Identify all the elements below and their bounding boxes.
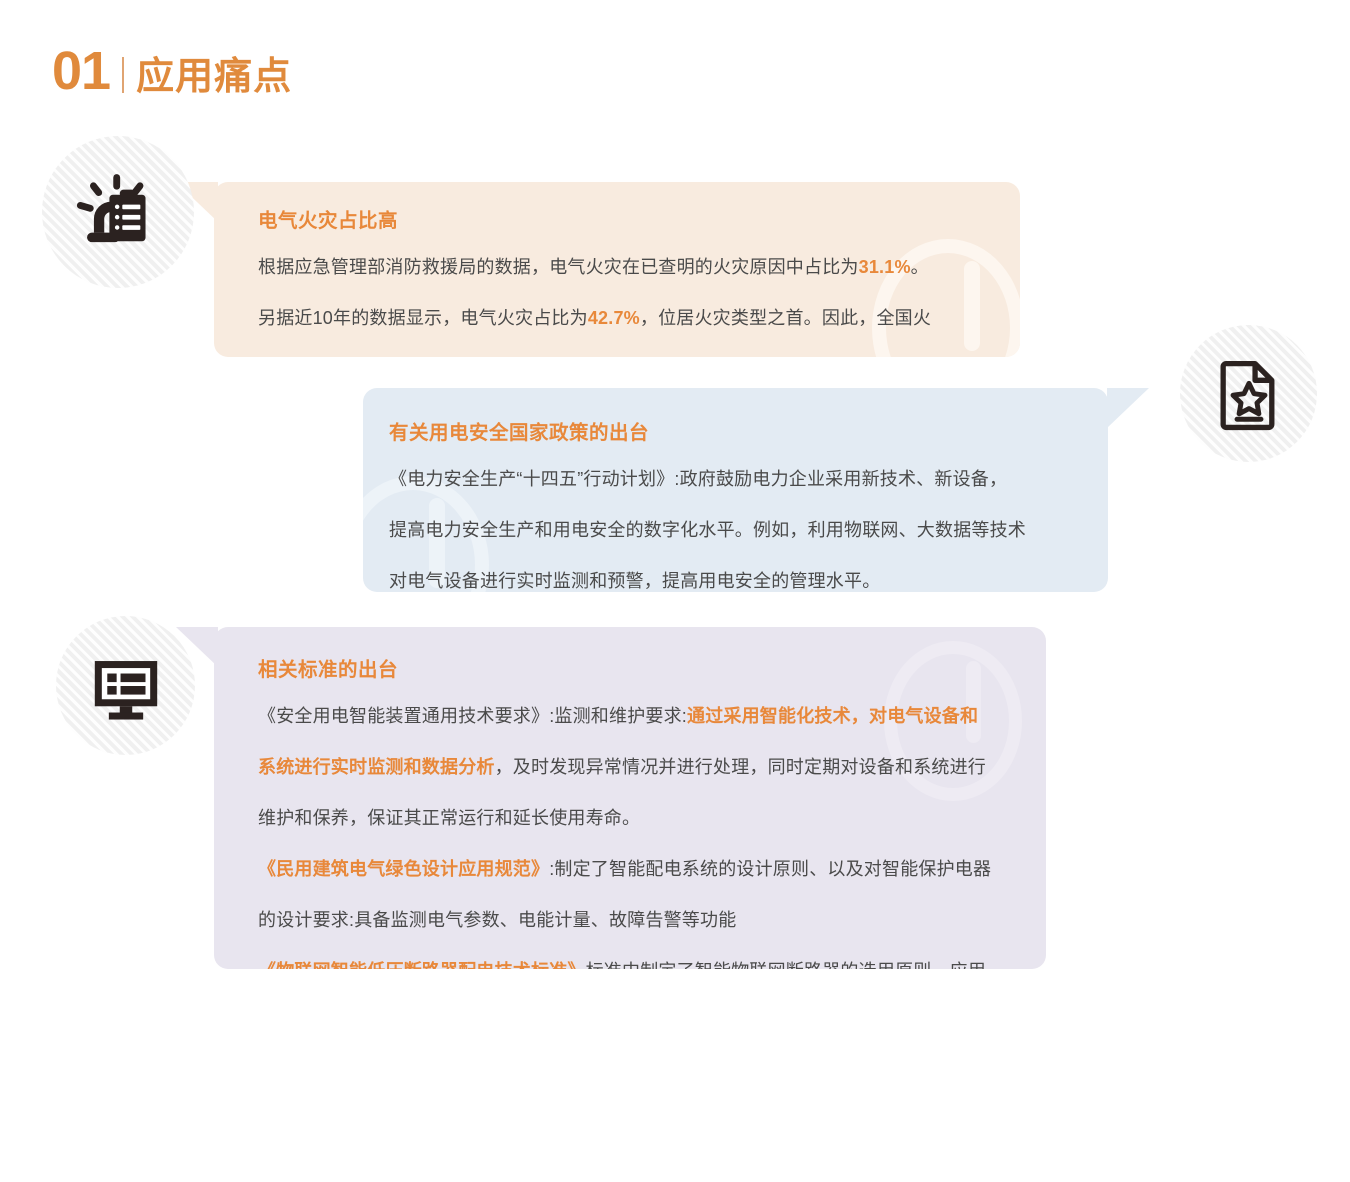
bubble-title-2: 有关用电安全国家政策的出台 [389,416,1078,445]
body-line: 根据应急管理部消防救援局的数据，电气火灾在已查明的火灾原因中占比为31.1%。 [258,247,990,288]
body-line: 维护和保养，保证其正常运行和延长使用寿命。 [258,798,1018,839]
bubble-title-3: 相关标准的出台 [258,653,1018,682]
body-line: 灾中电气火灾的占比非常高，需要引起人们的关注和重视。 [258,349,990,357]
body-line: 《电力安全生产“十四五”行动计划》:政府鼓励电力企业采用新技术、新设备， [389,459,1078,500]
city-skyline-decoration [0,952,1350,1182]
header-divider [122,57,124,93]
body-line: 《安全用电智能装置通用技术要求》:监测和维护要求:通过采用智能化技术，对电气设备… [258,696,1018,737]
bubble-title-1: 电气火灾占比高 [258,204,990,233]
body-line: 对电气设备进行实时监测和预警，提高用电安全的管理水平。 [389,561,1078,592]
icon-badge-alarm [42,136,194,288]
bubble-body-3: 《安全用电智能装置通用技术要求》:监测和维护要求:通过采用智能化技术，对电气设备… [258,696,1018,969]
body-line: 提高电力安全生产和用电安全的数字化水平。例如，利用物联网、大数据等技术 [389,510,1078,551]
bubble-body-1: 根据应急管理部消防救援局的数据，电气火灾在已查明的火灾原因中占比为31.1%。 … [258,247,990,357]
document-star-icon [1211,356,1287,432]
body-line: 《物联网智能低压断路器配电技术标准》标准中制定了智能物联网断路器的选用原则、应用 [258,951,1018,969]
bubble-body-2: 《电力安全生产“十四五”行动计划》:政府鼓励电力企业采用新技术、新设备， 提高电… [389,459,1078,592]
bubble-related-standards: 相关标准的出台 《安全用电智能装置通用技术要求》:监测和维护要求:通过采用智能化… [214,627,1046,969]
page-header: 01 应用痛点 [52,36,292,98]
icon-badge-monitor [56,616,195,755]
alarm-clipboard-icon [75,169,161,255]
body-line: 另据近10年的数据显示，电气火灾占比为42.7%，位居火灾类型之首。因此，全国火 [258,298,990,339]
icon-badge-document [1180,325,1317,462]
header-number: 01 [52,44,110,98]
page-title: 应用痛点 [136,58,292,96]
body-line: 《民用建筑电气绿色设计应用规范》:制定了智能配电系统的设计原则、以及对智能保护电… [258,849,1018,890]
bubble-tail-2 [1107,388,1149,428]
monitor-icon [87,647,165,725]
body-line: 的设计要求:具备监测电气参数、电能计量、故障告警等功能 [258,900,1018,941]
bubble-electrical-fire-ratio: 电气火灾占比高 根据应急管理部消防救援局的数据，电气火灾在已查明的火灾原因中占比… [214,182,1020,357]
bubble-national-policy: 有关用电安全国家政策的出台 《电力安全生产“十四五”行动计划》:政府鼓励电力企业… [363,388,1108,592]
body-line: 系统进行实时监测和数据分析，及时发现异常情况并进行处理，同时定期对设备和系统进行 [258,747,1018,788]
